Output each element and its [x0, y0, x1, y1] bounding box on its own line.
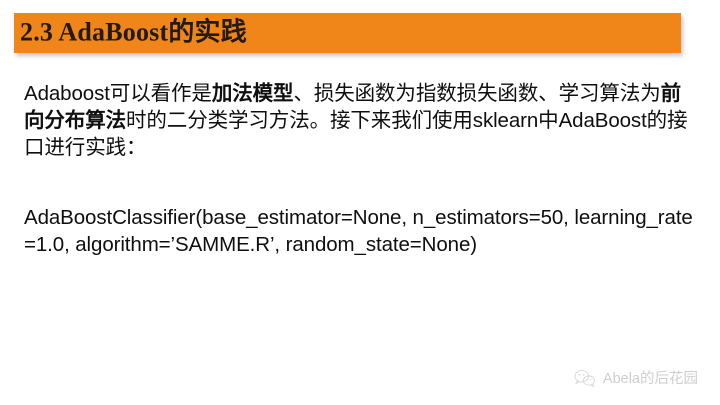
- wechat-icon: [574, 369, 596, 388]
- watermark: Abela的后花园: [574, 369, 698, 388]
- code-signature-block: AdaBoostClassifier(base_estimator=None, …: [24, 204, 700, 258]
- watermark-label: Abela的后花园: [603, 371, 698, 387]
- page-title: 2.3 AdaBoost的实践: [20, 18, 247, 46]
- slide-title-bar: 2.3 AdaBoost的实践: [14, 13, 681, 53]
- intro-paragraph: Adaboost可以看作是加法模型、损失函数为指数损失函数、学习算法为前向分布算…: [24, 80, 700, 161]
- paragraph-segment: 、损失函数为指数损失函数、学习算法为: [293, 82, 660, 105]
- slide-content: Adaboost可以看作是加法模型、损失函数为指数损失函数、学习算法为前向分布算…: [24, 80, 700, 258]
- paragraph-segment-emphasis: 加法模型: [212, 82, 294, 105]
- paragraph-segment: Adaboost可以看作是: [24, 82, 212, 105]
